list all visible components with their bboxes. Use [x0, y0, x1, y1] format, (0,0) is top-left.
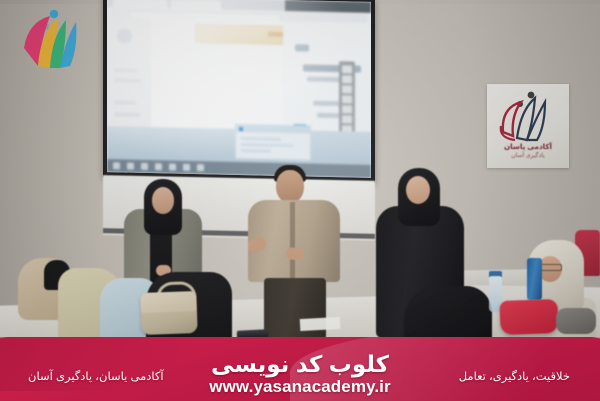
projected-heading [295, 44, 309, 51]
start-icon [113, 162, 120, 169]
yasan-academy-logo-icon [487, 86, 569, 144]
presenter-man-center [246, 162, 346, 338]
media-icon [183, 164, 190, 171]
projected-dialog-titlebar [236, 125, 310, 134]
wall-poster: آکادمی یاسان یادگیری آسان [487, 84, 569, 168]
bag-flap [140, 291, 197, 313]
projected-window-controls [285, 0, 371, 13]
projected-dialog-line [241, 143, 293, 147]
app-icon [239, 127, 243, 131]
beige-shoulder-bag [140, 291, 197, 335]
pen-icon [342, 75, 352, 83]
text-icon [342, 105, 352, 113]
screenshot-root: آکادمی یاسان یادگیری آسان [0, 0, 600, 401]
face [152, 187, 174, 214]
chat-icon [197, 164, 204, 171]
bottom-banner: آکادمی یاسان، یادگیری آسان کلوب کد نویسی… [0, 337, 600, 401]
eraser-icon [342, 85, 352, 93]
blue-thermos [527, 258, 542, 300]
projected-nav-item [114, 112, 140, 117]
zoom-icon [342, 115, 352, 123]
yasan-ribbon-logo-icon [14, 6, 88, 72]
projected-content [107, 0, 371, 178]
projected-dialog [235, 124, 311, 161]
folder-icon [127, 163, 134, 170]
poster-line-1: آکادمی یاسان [487, 142, 569, 151]
grey-bag [556, 308, 596, 334]
projected-dialog-line [241, 149, 271, 153]
placket [290, 202, 295, 280]
projected-dialog-line [241, 137, 281, 141]
face [276, 170, 304, 203]
projector-screen [107, 0, 371, 178]
projected-nav-item [114, 78, 142, 83]
projected-avatar [117, 28, 132, 43]
projected-tab [113, 0, 167, 8]
face [406, 176, 430, 204]
papers [300, 317, 341, 331]
projector-screen-frame [103, 0, 375, 183]
projected-nav-item [114, 68, 138, 73]
poster-line-2: یادگیری آسان [487, 152, 569, 159]
projected-tab [171, 0, 221, 10]
browser-icon [141, 163, 148, 170]
red-backpack [499, 299, 558, 335]
projected-nav-item [114, 100, 136, 104]
banner-right-tagline: خلاقیت، یادگیری، تعامل [459, 369, 570, 383]
shape-icon [342, 95, 352, 103]
cursor-icon [342, 65, 352, 73]
mail-icon [155, 163, 162, 170]
editor-icon [169, 163, 176, 170]
